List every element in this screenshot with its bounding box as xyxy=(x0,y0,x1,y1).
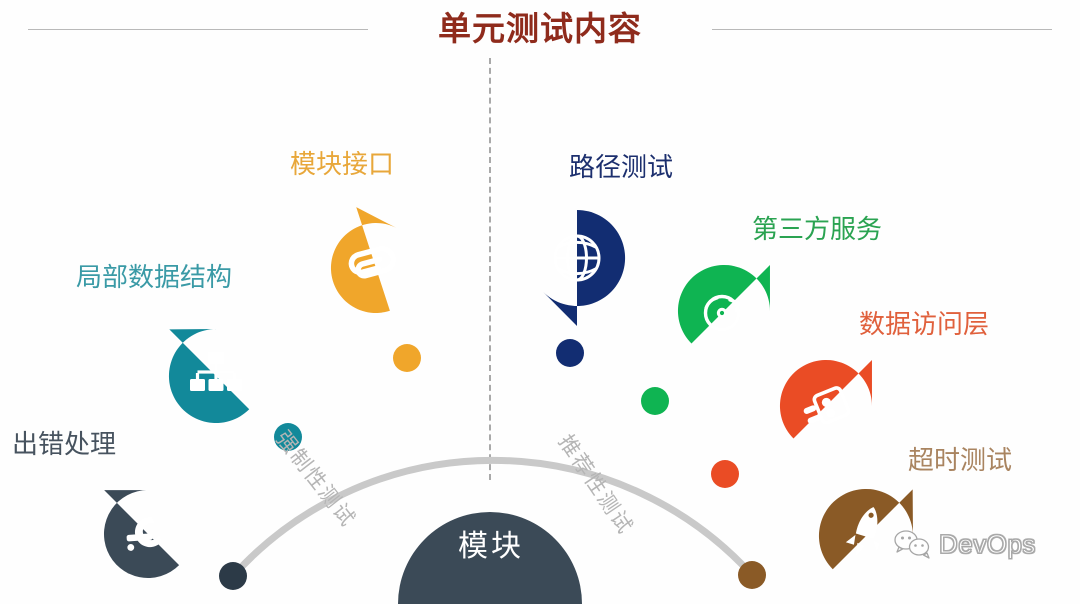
watermark: DevOps xyxy=(893,528,1036,560)
arc-dot-path-test[interactable] xyxy=(556,339,584,367)
pin-timeout-test[interactable] xyxy=(799,456,936,593)
pin-path-test[interactable] xyxy=(543,210,625,326)
label-timeout-test: 超时测试 xyxy=(908,448,1012,474)
arc-dot-data-access-layer[interactable] xyxy=(711,460,739,488)
globe-icon xyxy=(555,236,599,280)
label-path-test: 路径测试 xyxy=(569,155,673,181)
pin-data-access-layer[interactable] xyxy=(761,327,895,461)
hub-label: 模块 xyxy=(426,521,556,565)
arc-dot-module-interface[interactable] xyxy=(393,344,421,372)
label-third-party-service: 第三方服务 xyxy=(752,217,882,243)
slide-canvas: 单元测试内容 xyxy=(0,0,1080,604)
arc-dot-timeout-test[interactable] xyxy=(738,561,766,589)
radial-diagram xyxy=(0,0,1080,604)
label-local-data-structure: 局部数据结构 xyxy=(76,265,232,291)
pin-local-data-structure[interactable] xyxy=(136,306,273,443)
label-module-interface: 模块接口 xyxy=(290,152,394,178)
pin-third-party-service[interactable] xyxy=(659,232,793,366)
arc-dot-error-handling[interactable] xyxy=(219,562,247,590)
pin-error-handling[interactable] xyxy=(73,468,201,596)
watermark-text: DevOps xyxy=(939,529,1036,560)
label-error-handling: 出错处理 xyxy=(12,432,116,458)
wechat-icon xyxy=(893,528,933,560)
pin-module-interface[interactable] xyxy=(313,197,420,324)
label-data-access-layer: 数据访问层 xyxy=(859,312,989,338)
arc-dot-third-party-service[interactable] xyxy=(641,387,669,415)
